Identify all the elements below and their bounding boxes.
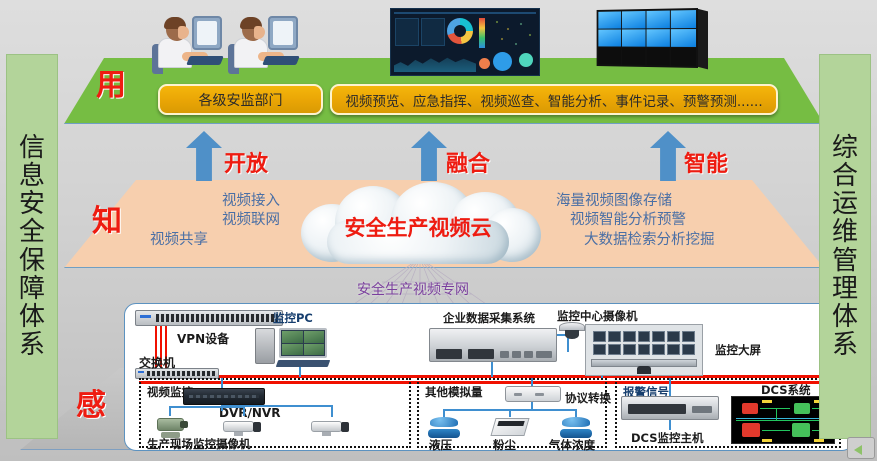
- pillar-left-char-3: 全: [19, 218, 45, 246]
- control-room-video-wall: [593, 331, 695, 355]
- wire-blue: [509, 409, 511, 417]
- arrow-label-open: 开放: [224, 146, 268, 178]
- video-grid: [282, 331, 324, 355]
- data-acquisition-server-icon: [429, 328, 557, 362]
- pillar-left-char-5: 障: [19, 275, 45, 303]
- video-wall-tile: [646, 11, 670, 29]
- label-data-acquisition: 企业数据采集系统: [443, 310, 535, 326]
- dashboard-area-chart: [394, 50, 476, 72]
- video-wall-side-panel: [697, 9, 708, 70]
- cloud-left-item-1: 视频联网: [150, 211, 280, 230]
- status-led: [138, 371, 144, 373]
- cloud-right-item-1: 视频智能分析预警: [556, 211, 766, 230]
- operators-at-workstations-image: [152, 6, 302, 78]
- label-field-cameras: 生产现场监控摄像机: [147, 436, 251, 452]
- pillar-left-char-4: 保: [19, 247, 45, 275]
- pillar-operations-management: 综 合 运 维 管 理 体 系: [819, 54, 871, 439]
- control-room-chair: [637, 366, 651, 374]
- wire-blue: [669, 420, 671, 430]
- server-bay: [628, 404, 686, 414]
- pillar-right-char-2: 运: [832, 190, 858, 218]
- pillar-right-char-4: 管: [832, 247, 858, 275]
- dashboard-table-right: [421, 18, 445, 46]
- label-monitoring-big-screen: 监控大屏: [715, 342, 761, 358]
- monitor-shape: [268, 16, 298, 50]
- operator-2-icon: [228, 12, 300, 78]
- camera-body: [223, 421, 254, 432]
- dashboard-table-left: [395, 18, 419, 46]
- wire-blue: [669, 378, 671, 396]
- infrastructure-panel: VPN设备 交换机 监控PC 企业数据采集系统 监控中心摄像机: [124, 303, 854, 451]
- pc-tower-icon: [255, 328, 275, 364]
- layer-tag-know: 知: [92, 196, 122, 240]
- wire-blue: [331, 405, 333, 417]
- wire-blue: [169, 406, 171, 416]
- video-wall-tile: [622, 11, 645, 29]
- protocol-converter-icon: [505, 386, 561, 402]
- pillar-right-char-0: 综: [832, 134, 858, 162]
- gas-sensor-icon: [559, 416, 593, 438]
- taskbar-corner-icon[interactable]: [847, 437, 875, 459]
- pillar-right-char-3: 维: [832, 218, 858, 246]
- dashboard-title-strip: [394, 12, 536, 14]
- dome-camera-icon: [559, 322, 585, 340]
- dcs-unit: [794, 403, 810, 414]
- pillar-left-char-1: 息: [19, 162, 45, 190]
- bullet-camera-icon: [223, 418, 261, 436]
- layer-tag-use: 用: [96, 60, 126, 104]
- port-array: [147, 371, 215, 377]
- dashboard-bubble-chart: [479, 47, 535, 71]
- dcs-tag: [762, 400, 772, 403]
- dome-lens: [565, 330, 579, 339]
- wire-blue: [491, 362, 493, 377]
- video-wall-tile: [671, 29, 696, 47]
- camera-lens: [253, 422, 261, 432]
- video-wall-screen-grid: [597, 8, 698, 68]
- arrow-open-icon: [186, 131, 222, 181]
- cloud-capabilities-right: 海量视频图像存储 视频智能分析预警 大数据检索分析挖掘: [556, 192, 766, 250]
- bubble-large: [493, 52, 512, 71]
- dashboard-gradient-legend: [479, 18, 485, 48]
- server-slot: [500, 351, 509, 358]
- bubble-small: [479, 58, 490, 69]
- video-wall-image: [588, 8, 708, 70]
- video-wall-tile: [598, 47, 621, 64]
- pillar-right-char-1: 合: [832, 162, 858, 190]
- pillar-left-char-6: 体: [19, 303, 45, 331]
- dashboard-scatter-plot: [491, 17, 537, 49]
- pc-monitor-icon: [279, 328, 327, 358]
- label-other-analog: 其他模拟量: [425, 384, 483, 400]
- video-wall-tile: [671, 10, 696, 28]
- label-dcs-host: DCS监控主机: [631, 430, 703, 446]
- dcs-unit: [742, 403, 758, 414]
- keyboard-shape: [186, 56, 224, 65]
- pillar-left-char-7: 系: [19, 331, 45, 359]
- dcs-pipe: [760, 408, 790, 409]
- operator-1-icon: [152, 12, 224, 78]
- dust-sensor-icon: [490, 418, 529, 436]
- video-wall-tile: [671, 48, 696, 66]
- camera-mount: [322, 432, 330, 436]
- converter-port: [514, 393, 523, 397]
- bullet-camera-icon: [311, 418, 349, 436]
- status-led: [140, 315, 150, 318]
- hydraulic-sensor-icon: [427, 416, 461, 438]
- field-camera-icon: [153, 416, 189, 438]
- dcs-pipe: [762, 430, 790, 431]
- dcs-host-icon: [621, 396, 719, 420]
- server-slot: [536, 351, 552, 358]
- video-wall-tile: [646, 48, 670, 66]
- arrow-intelligent-icon: [650, 131, 686, 181]
- wire-blue: [243, 406, 245, 416]
- server-port: [468, 349, 494, 359]
- face-shape: [178, 26, 189, 39]
- pillar-left-char-2: 安: [19, 190, 45, 218]
- sensor-cap: [430, 417, 457, 427]
- architecture-diagram: 用 知 感 信 息 安 全 保 障 体 系 综 合 运 维 管 理 体 系: [0, 0, 877, 461]
- video-cloud-icon: 安全生产视频云: [287, 182, 549, 266]
- dvr-nvr-icon: [183, 388, 265, 405]
- pillar-right-char-7: 系: [832, 331, 858, 359]
- control-room-image: [585, 324, 703, 376]
- label-sensor-dust: 粉尘: [493, 437, 516, 453]
- pillar-right-char-6: 体: [832, 303, 858, 331]
- analytics-dashboard-image: [390, 8, 540, 76]
- video-wall-tile: [598, 29, 621, 46]
- cloud-capabilities-left: 视频接入 视频联网 视频共享: [150, 192, 280, 250]
- private-network-label: 安全生产视频专网: [357, 279, 469, 299]
- server-slot: [524, 351, 533, 358]
- dcs-unit: [742, 423, 760, 437]
- arrow-converge-icon: [411, 131, 447, 181]
- camera-lens: [341, 422, 349, 432]
- arrow-shape: [650, 131, 686, 181]
- dcs-pipe: [776, 408, 777, 420]
- wire-blue: [221, 405, 333, 407]
- dcs-tag: [814, 439, 824, 442]
- arrow-shape: [411, 131, 447, 181]
- cloud-right-item-0: 海量视频图像存储: [556, 192, 766, 211]
- server-slot: [512, 351, 521, 358]
- server-port: [436, 349, 462, 359]
- port-array: [156, 314, 277, 323]
- wire-blue: [531, 378, 533, 386]
- cloud-right-item-2: 大数据检索分析挖掘: [556, 231, 766, 250]
- bubble-medium: [519, 53, 533, 67]
- label-sensor-hydraulic: 液压: [429, 437, 452, 453]
- server-slot: [692, 406, 712, 413]
- pillar-left-char-0: 信: [19, 134, 45, 162]
- label-vpn-device: VPN设备: [177, 330, 229, 347]
- pillar-right-char-5: 理: [832, 275, 858, 303]
- video-wall-tile: [622, 47, 645, 65]
- dcs-bus: [736, 420, 832, 421]
- label-switch: 交换机: [139, 354, 175, 371]
- cloud-left-item-2: 视频共享: [150, 231, 280, 250]
- sensor-cap: [562, 417, 589, 427]
- dcs-tag: [762, 439, 772, 442]
- video-wall-tile: [622, 29, 645, 46]
- label-monitoring-pc: 监控PC: [273, 310, 313, 326]
- functions-button[interactable]: 视频预览、应急指挥、视频巡查、智能分析、事件记录、预警预测......: [330, 84, 778, 115]
- dcs-unit: [792, 423, 810, 437]
- label-protocol-conversion: 协议转换: [565, 390, 611, 406]
- dashboard-donut-chart: [447, 18, 473, 44]
- monitor-shape: [192, 16, 222, 50]
- cloud-label: 安全生产视频云: [287, 212, 549, 242]
- arrow-label-intelligent: 智能: [684, 146, 728, 178]
- video-wall-tile: [598, 11, 621, 28]
- cloud-left-item-0: 视频接入: [150, 192, 280, 211]
- arrow-label-converge: 融合: [446, 146, 490, 178]
- camera-body: [311, 421, 342, 432]
- video-wall-tile: [646, 29, 670, 47]
- pc-keyboard-icon: [276, 360, 331, 367]
- camera-lens: [180, 421, 188, 428]
- dcs-bus: [736, 418, 832, 419]
- arrow-shape: [186, 131, 222, 181]
- dept-button[interactable]: 各级安监部门: [158, 84, 323, 115]
- dvr-front-panel: [189, 395, 259, 398]
- wire-blue: [221, 378, 223, 388]
- label-sensor-gas: 气体浓度: [549, 437, 595, 453]
- pillar-information-security: 信 息 安 全 保 障 体 系: [6, 54, 58, 439]
- layer-tag-sense: 感: [76, 380, 106, 424]
- face-shape: [254, 26, 265, 39]
- converter-port: [535, 393, 544, 397]
- vpn-appliance-icon: [135, 310, 283, 326]
- keyboard-shape: [262, 56, 300, 65]
